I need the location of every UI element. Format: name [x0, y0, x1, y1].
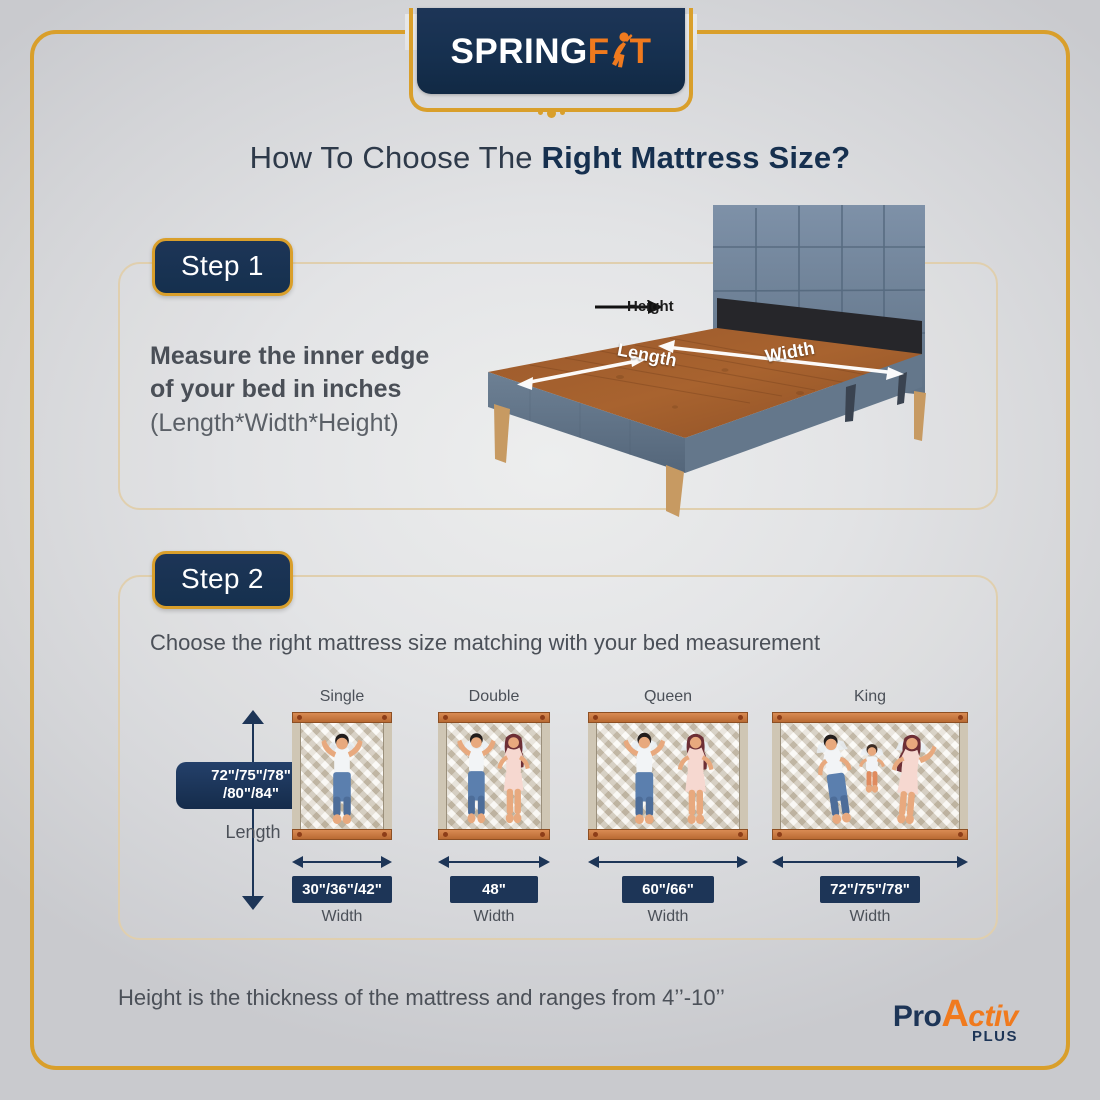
mattress-rail-top — [292, 712, 392, 723]
size-label-double: Double — [438, 688, 550, 706]
step-1-badge: Step 1 — [152, 238, 293, 296]
size-label-king: King — [772, 688, 968, 706]
size-label-single: Single — [292, 688, 392, 706]
width-arrow-queen — [588, 854, 748, 870]
logo-text-spring: SPRING — [451, 34, 588, 69]
width-chip-double: 48" — [450, 876, 538, 903]
mattress-rail-bottom — [292, 829, 392, 840]
arrow-right-icon — [539, 856, 550, 868]
proactiv-pro: Pro — [893, 1000, 942, 1033]
mattress-size-row: 72"/75"/78" /80"/84" Length Single — [150, 688, 970, 938]
logo-plate: SPRINGF T — [417, 8, 685, 94]
mattress-single — [292, 712, 392, 840]
size-column-double: Double — [438, 688, 550, 926]
arrow-down-icon — [242, 896, 264, 910]
mattress-rail-top — [772, 712, 968, 723]
mattress-rail-bottom — [438, 829, 550, 840]
page-title: How To Choose The Right Mattress Size? — [0, 140, 1100, 176]
width-chip-king: 72"/75"/78" — [820, 876, 920, 903]
width-arrow-king — [772, 854, 968, 870]
mattress-rail-top — [588, 712, 748, 723]
bed-illustration — [470, 195, 970, 525]
step-2-badge: Step 2 — [152, 551, 293, 609]
couple-queen-icon — [597, 722, 739, 830]
brand-logo: SPRINGF T — [409, 8, 693, 112]
family-king-icon — [781, 722, 959, 830]
arrow-right-icon — [737, 856, 748, 868]
width-arrow-double — [438, 854, 550, 870]
arrow-right-icon — [957, 856, 968, 868]
step-1-instruction: Measure the inner edge of your bed in in… — [150, 340, 490, 440]
size-column-single: Single — [292, 688, 392, 926]
step-1-line-1: Measure the inner edge — [150, 340, 490, 373]
couple-double-icon — [447, 722, 541, 830]
mattress-surface — [596, 721, 740, 831]
step-1-line-3: (Length*Width*Height) — [150, 407, 490, 440]
mattress-rail-bottom — [588, 829, 748, 840]
mattress-queen — [588, 712, 748, 840]
mattress-king — [772, 712, 968, 840]
jumping-man-icon — [607, 31, 633, 71]
width-chip-queen: 60"/66" — [622, 876, 714, 903]
mattress-rail-top — [438, 712, 550, 723]
infographic-page: SPRINGF T How To Choose The Right Mattre… — [0, 0, 1100, 1100]
mattress-surface — [446, 721, 542, 831]
width-arrow-single — [292, 854, 392, 870]
page-title-plain: How To Choose The — [250, 140, 542, 175]
arrow-up-icon — [242, 710, 264, 724]
mattress-surface — [300, 721, 384, 831]
footer-note: Height is the thickness of the mattress … — [118, 985, 725, 1011]
arrow-right-icon — [381, 856, 392, 868]
proactiv-plus-logo: ProActiv PLUS — [893, 995, 1018, 1044]
width-chip-single: 30"/36"/42" — [292, 876, 392, 903]
length-value-line-1: 72"/75"/78" — [211, 767, 291, 784]
step-2-instruction: Choose the right mattress size matching … — [150, 628, 880, 658]
step-1-line-2: of your bed in inches — [150, 373, 490, 406]
logo-text-t: T — [630, 34, 652, 69]
mattress-surface — [780, 721, 960, 831]
mattress-double — [438, 712, 550, 840]
size-column-queen: Queen — [588, 688, 748, 926]
size-column-king: King — [772, 688, 968, 926]
length-value-line-2: /80"/84" — [223, 785, 279, 802]
proactiv-a: A — [941, 993, 968, 1035]
mattress-rail-bottom — [772, 829, 968, 840]
person-single-icon — [301, 722, 383, 830]
page-title-bold: Right Mattress Size? — [542, 140, 851, 175]
bed-label-height: Height — [627, 298, 674, 315]
length-gauge-line — [252, 722, 254, 898]
width-caption-single: Width — [292, 908, 392, 926]
width-caption-queen: Width — [588, 908, 748, 926]
width-caption-king: Width — [772, 908, 968, 926]
logo-dot-ornament — [409, 109, 693, 116]
size-label-queen: Queen — [588, 688, 748, 706]
width-caption-double: Width — [438, 908, 550, 926]
